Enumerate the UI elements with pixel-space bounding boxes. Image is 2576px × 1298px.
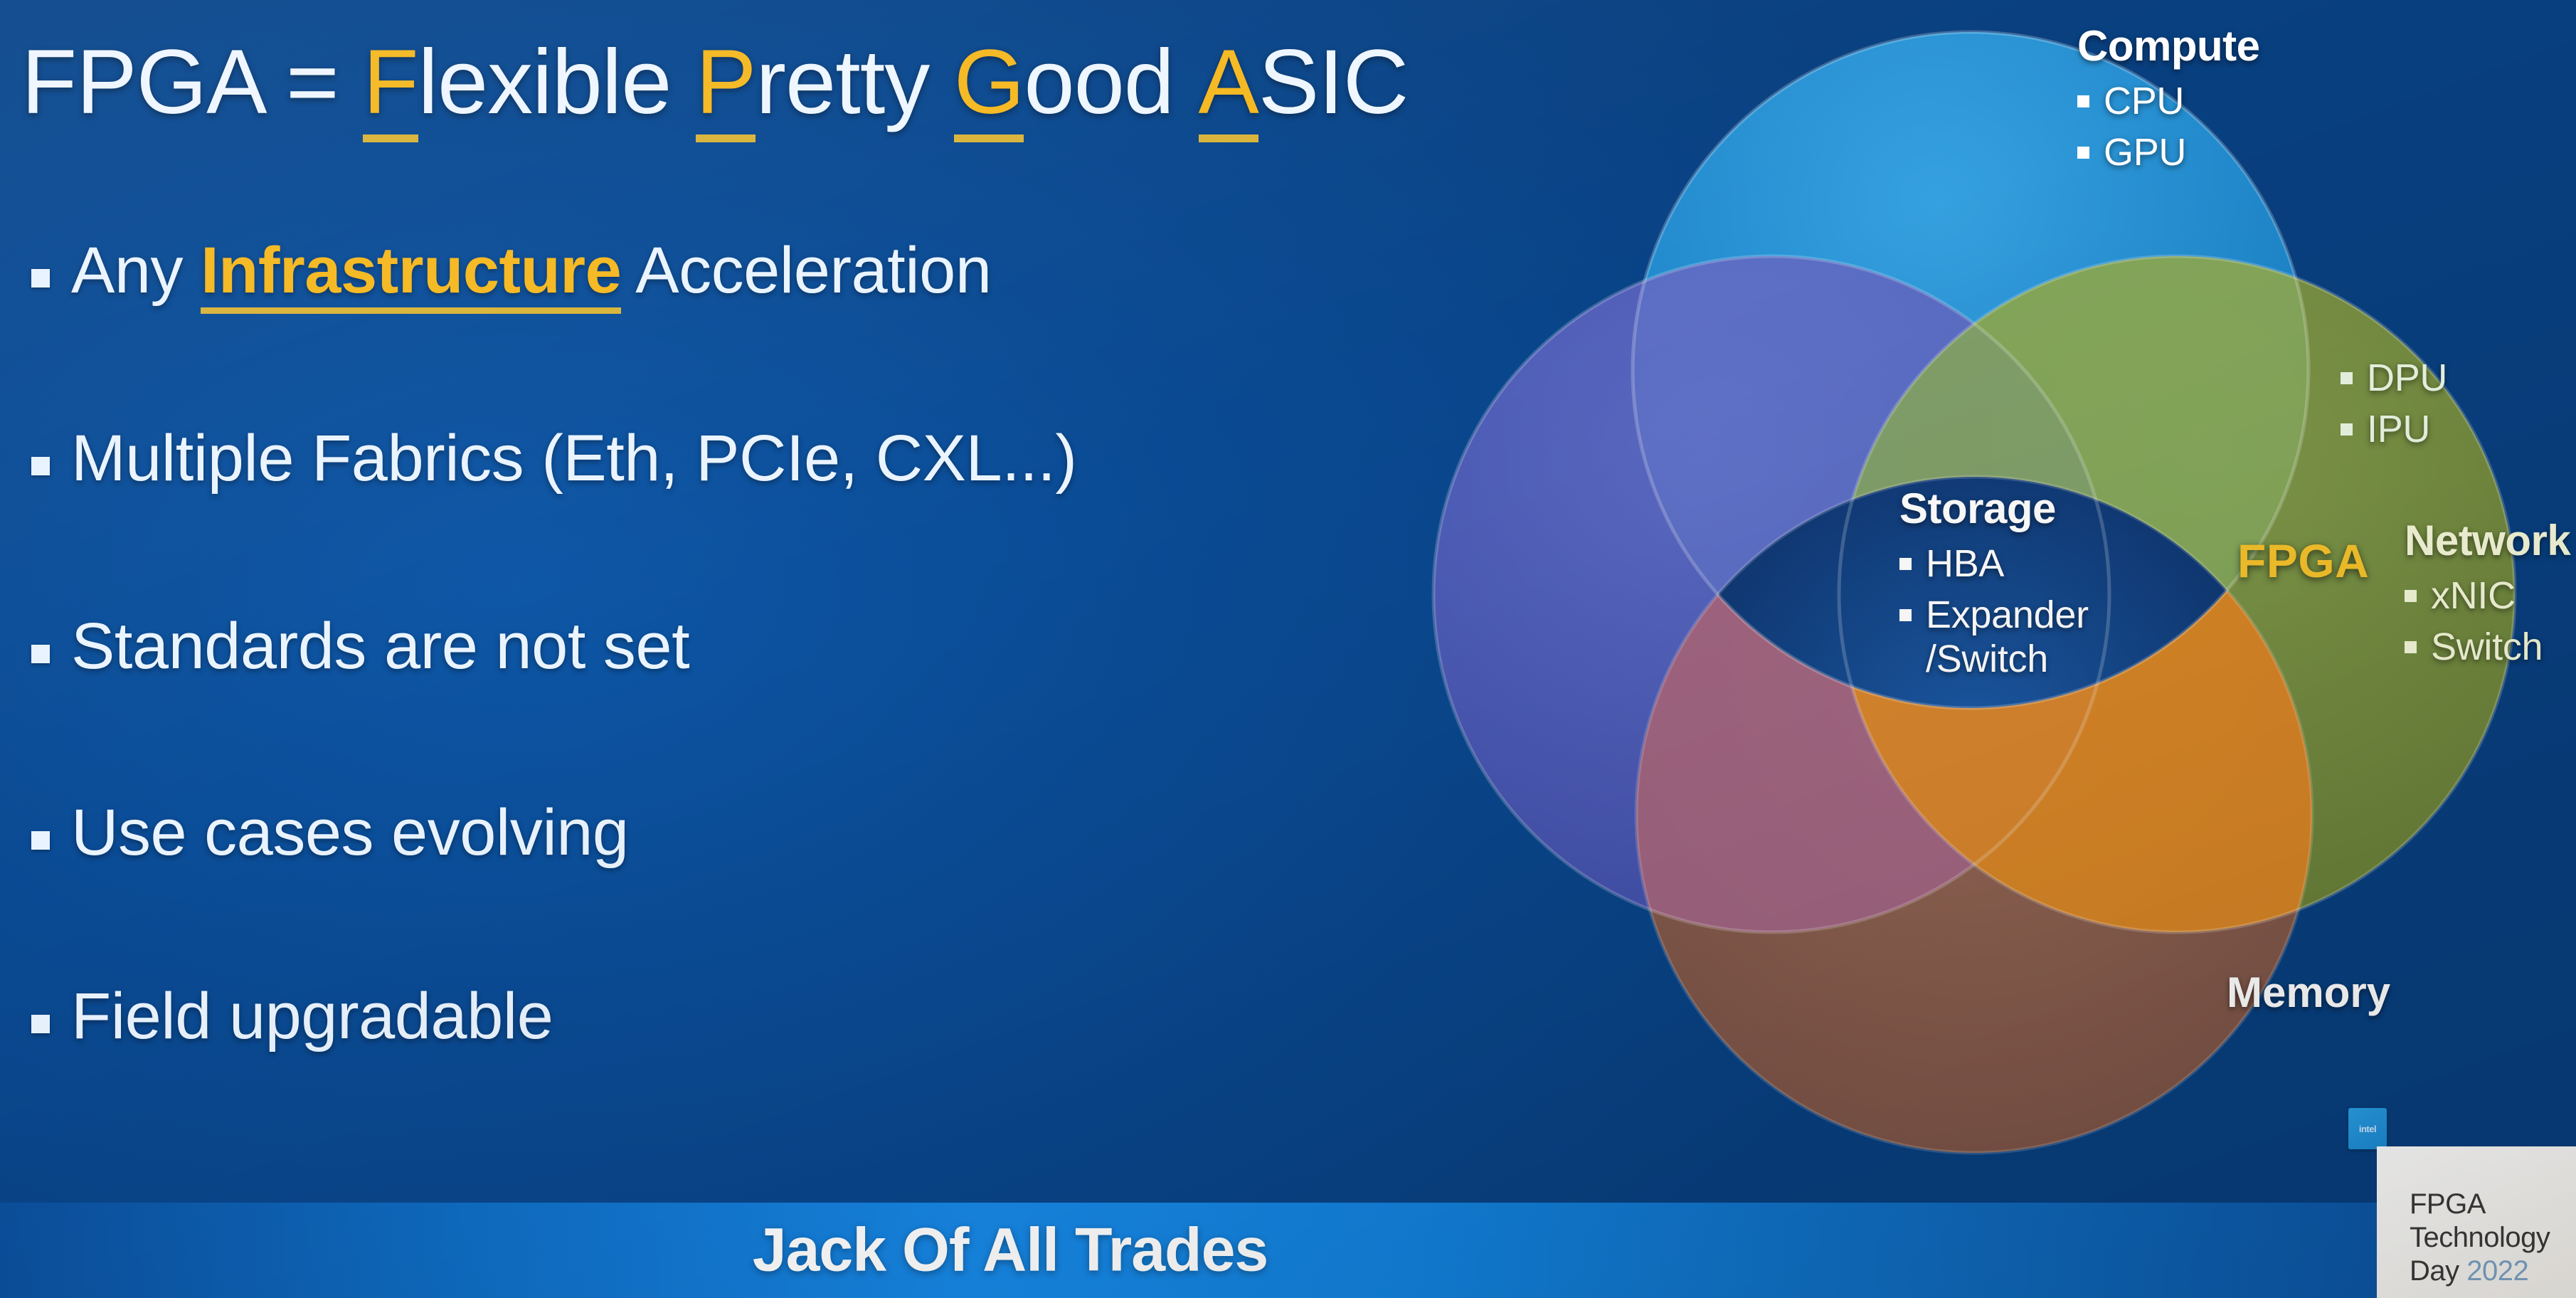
title-rest-f: lexible [418, 31, 696, 133]
slide-title: FPGA = Flexible Pretty Good ASIC [21, 30, 1408, 134]
title-highlight-a: A [1199, 31, 1258, 142]
title-prefix: FPGA = [21, 31, 363, 133]
title-rest-p: retty [756, 31, 954, 133]
title-highlight-f: F [363, 31, 418, 142]
bullet-text-1: Any Infrastructure Acceleration [71, 236, 992, 305]
left-content-column: FPGA = Flexible Pretty Good ASIC Any Inf… [0, 0, 1394, 1203]
intel-badge-icon: intel [2348, 1108, 2387, 1149]
bullet-1-pre: Any [71, 234, 201, 307]
bullet-square-icon [31, 645, 50, 663]
bullet-square-icon [31, 457, 50, 475]
bullet-square-icon [31, 831, 50, 850]
bullet-text-4: Use cases evolving [71, 798, 629, 867]
bullet-item-2: Multiple Fabrics (Eth, PCIe, CXL...) [31, 424, 1077, 493]
bullet-item-1: Any Infrastructure Acceleration [31, 236, 992, 305]
title-highlight-p: P [696, 31, 756, 142]
bullet-1-post: Acceleration [621, 234, 991, 307]
venn-svg [1345, 0, 2576, 1196]
bullet-text-2: Multiple Fabrics (Eth, PCIe, CXL...) [71, 424, 1077, 493]
intel-badge-label: intel [2359, 1124, 2376, 1134]
bullet-square-icon [31, 1015, 50, 1033]
bullet-square-icon [31, 269, 50, 287]
bullet-1-emphasis: Infrastructure [201, 234, 621, 314]
logo-card: FPGA Technology Day 2022 [2377, 1146, 2576, 1298]
logo-line-technology: Technology [2410, 1221, 2576, 1255]
bullet-item-5: Field upgradable [31, 982, 553, 1051]
slide-canvas: FPGA = Flexible Pretty Good ASIC Any Inf… [0, 0, 2576, 1298]
bullet-text-5: Field upgradable [71, 982, 553, 1051]
title-rest-g: ood [1024, 31, 1198, 133]
venn-diagram: Compute CPU GPU Storage HBA Expander /Sw… [1345, 0, 2576, 1196]
bottom-banner: Jack Of All Trades [0, 1203, 2576, 1298]
bullet-item-4: Use cases evolving [31, 798, 629, 867]
bullet-item-3: Standards are not set [31, 612, 689, 681]
banner-text: Jack Of All Trades [753, 1215, 1268, 1286]
logo-year: 2022 [2466, 1255, 2528, 1287]
logo-line-day-year: Day 2022 [2410, 1255, 2576, 1288]
event-logo: intel FPGA Technology Day 2022 [2327, 1102, 2576, 1298]
logo-line-fpga: FPGA [2410, 1188, 2576, 1221]
bullet-text-3: Standards are not set [71, 612, 689, 681]
logo-day-prefix: Day [2410, 1255, 2466, 1287]
title-highlight-g: G [954, 31, 1024, 142]
